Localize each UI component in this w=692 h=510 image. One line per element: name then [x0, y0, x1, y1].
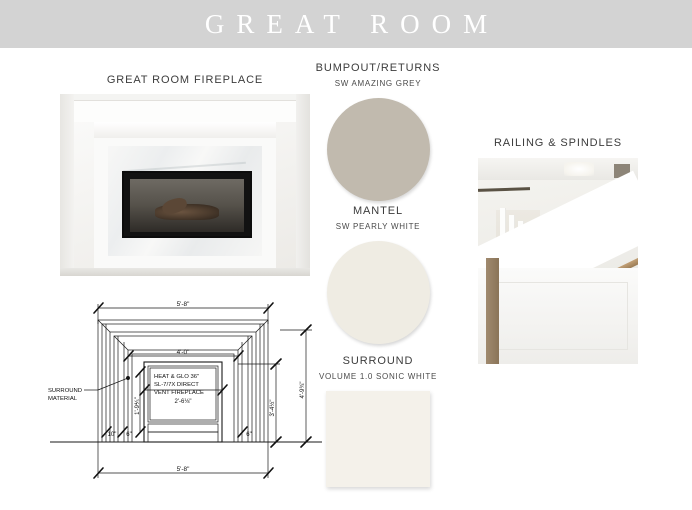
dim-return-inner: 6": [126, 432, 131, 438]
wall-left: [60, 94, 74, 276]
mantel-subcaption: SW PEARLY WHITE: [298, 222, 458, 231]
bumpout-subcaption: SW AMAZING GREY: [298, 79, 458, 88]
dim-mantel-height: 3'-4½": [269, 400, 276, 417]
fireplace-frieze-band: [94, 122, 276, 138]
ceiling-light-glow: [564, 162, 594, 176]
railing-photo-block: RAILING & SPINDLES: [460, 137, 656, 364]
mantel-color-swatch: [327, 241, 430, 344]
fireplace-mantel-shelf: [74, 100, 296, 122]
label-surround-material-line2: MATERIAL: [48, 396, 78, 402]
dim-overall-width-bottom: 5'-8": [177, 466, 190, 473]
dim-overall-width-top: 5'-8": [177, 301, 190, 308]
mantel-caption: MANTEL: [298, 205, 458, 217]
label-fireplace-model-line1: HEAT & GLO 36": [154, 374, 199, 380]
dim-return-right: 6": [246, 432, 251, 438]
newel-post: [486, 258, 499, 364]
label-surround-material-line1: SURROUND: [48, 388, 82, 394]
fireplace-photo-block: GREAT ROOM FIREPLACE: [48, 74, 322, 276]
bumpout-caption: BUMPOUT/RETURNS: [298, 62, 458, 74]
fireplace-elevation-drawing: 5'-8" 5'-8" 4'-0" 2'-6⅛" 10" 6" 6" 1'-9⅘…: [40, 290, 330, 490]
dim-firebox-width: 2'-6⅛": [175, 399, 192, 405]
page-title: GREAT ROOM: [193, 9, 499, 40]
bumpout-color-swatch: [327, 98, 430, 201]
label-fireplace-model-line2: SL-7/7X DIRECT: [154, 382, 199, 388]
label-fireplace-model-line3: VENT FIREPLACE: [154, 390, 204, 396]
page-header-bar: GREAT ROOM: [0, 0, 692, 48]
mantel-swatch-block: MANTEL SW PEARLY WHITE: [298, 205, 458, 344]
dim-firebox-height: 1'-9⅘": [135, 397, 141, 415]
stair-wainscot-panel: [478, 268, 638, 364]
surround-swatch-block: SURROUND VOLUME 1.0 SONIC WHITE: [290, 355, 466, 487]
railing-caption: RAILING & SPINDLES: [460, 137, 656, 149]
staircase-photo: [478, 158, 638, 364]
fireplace-hearth-floor: [60, 268, 310, 276]
surround-material-swatch: [326, 391, 430, 487]
dim-return-left: 10": [108, 432, 117, 438]
elevation-drawing-block: 5'-8" 5'-8" 4'-0" 2'-6⅛" 10" 6" 6" 1'-9⅘…: [40, 290, 330, 490]
bumpout-swatch-block: BUMPOUT/RETURNS SW AMAZING GREY: [298, 62, 458, 201]
fireplace-firebox: [122, 171, 252, 238]
fireplace-caption: GREAT ROOM FIREPLACE: [48, 74, 322, 86]
dim-opening-width: 4'-0": [177, 349, 190, 356]
fireplace-photo: [60, 94, 310, 276]
firebox-glass: [130, 179, 244, 232]
surround-caption: SURROUND: [290, 355, 466, 367]
surround-subcaption: VOLUME 1.0 SONIC WHITE: [290, 372, 466, 381]
